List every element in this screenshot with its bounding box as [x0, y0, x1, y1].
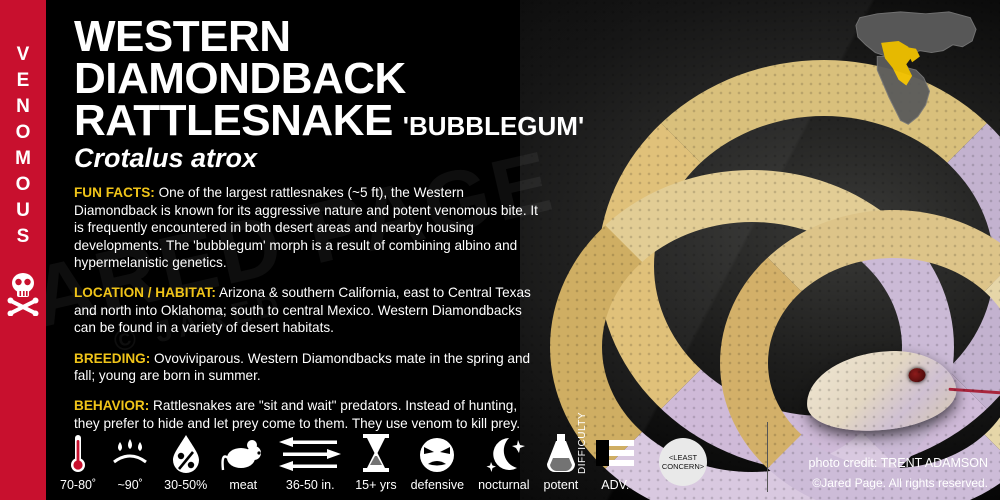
scientific-name: Crotalus atrox	[74, 143, 544, 174]
footer-divider	[767, 422, 768, 492]
care-icon-caption: ~90˚	[117, 478, 142, 492]
care-icon-difficulty: DIFFICULTY ADV.	[592, 430, 638, 492]
care-icon-caption: nocturnal	[478, 478, 529, 492]
common-name-line2: RATTLESNAKE	[74, 96, 393, 145]
care-icon-row: 70-80˚ ~90˚	[60, 408, 760, 492]
text-column: WESTERN DIAMONDBACK RATTLESNAKE'BUBBLEGU…	[74, 16, 544, 445]
care-icon-caption: 15+ yrs	[355, 478, 396, 492]
section-label: BREEDING:	[74, 351, 150, 366]
snake-eye	[908, 367, 926, 383]
care-icon-caption: potent	[544, 478, 579, 492]
humidity-icon	[110, 430, 150, 474]
skull-crossbones-icon	[6, 270, 40, 314]
page-title: WESTERN DIAMONDBACK RATTLESNAKE'BUBBLEGU…	[74, 16, 544, 141]
species-care-card: JARED PAGE © JARED VENOMOUS	[0, 0, 1000, 500]
mouse-icon	[221, 430, 265, 474]
care-icon-basking-humidity: ~90˚	[110, 430, 150, 492]
thermometer-icon	[67, 430, 89, 474]
care-icon-size: 36-50 in.	[279, 430, 341, 492]
section-location-habitat: LOCATION / HABITAT: Arizona & southern C…	[74, 284, 542, 336]
care-icon-diet: meat	[221, 430, 265, 492]
section-breeding: BREEDING: Ovoviviparous. Western Diamond…	[74, 350, 542, 385]
conservation-status-icon: <LEAST CONCERN>	[652, 432, 714, 488]
size-arrows-icon	[279, 430, 341, 474]
humidity-percent-icon	[169, 430, 203, 474]
care-icon-caption: 70-80˚	[60, 478, 96, 492]
svg-text:<LEAST: <LEAST	[669, 453, 698, 462]
angry-face-icon	[417, 430, 457, 474]
svg-text:CONCERN>: CONCERN>	[662, 462, 705, 471]
venomous-strip: VENOMOUS	[0, 0, 46, 500]
care-icon-lifespan: 15+ yrs	[355, 430, 396, 492]
north-america-range-map	[848, 8, 984, 132]
venom-flask-icon	[544, 430, 578, 474]
care-icon-caption: defensive	[411, 478, 465, 492]
care-icon-venom: potent	[544, 430, 579, 492]
moon-stars-icon	[483, 430, 525, 474]
care-icon-humidity-percent: 30-50%	[164, 430, 207, 492]
hourglass-icon	[360, 430, 392, 474]
care-icon-caption: 30-50%	[164, 478, 207, 492]
common-name-line1: WESTERN DIAMONDBACK	[74, 12, 406, 103]
section-label: LOCATION / HABITAT:	[74, 285, 216, 300]
photo-credit: photo credit: TRENT ADAMSON	[809, 456, 988, 470]
difficulty-label: DIFFICULTY	[577, 412, 588, 474]
care-icon-temperature: 70-80˚	[60, 430, 96, 492]
care-icon-temperament: defensive	[411, 430, 465, 492]
care-icon-conservation: <LEAST CONCERN>	[652, 432, 714, 492]
section-fun-facts: FUN FACTS: One of the largest rattlesnak…	[74, 184, 542, 271]
care-icon-caption: ADV.	[601, 478, 629, 492]
care-icon-caption: meat	[229, 478, 257, 492]
venomous-label: VENOMOUS	[14, 44, 33, 252]
section-label: FUN FACTS:	[74, 185, 155, 200]
difficulty-bar-icon	[592, 430, 638, 474]
care-icon-caption: 36-50 in.	[286, 478, 335, 492]
morph-name: 'BUBBLEGUM'	[403, 111, 584, 141]
care-icon-activity: nocturnal	[478, 430, 529, 492]
copyright-notice: ©Jared Page. All rights reserved.	[812, 476, 988, 490]
